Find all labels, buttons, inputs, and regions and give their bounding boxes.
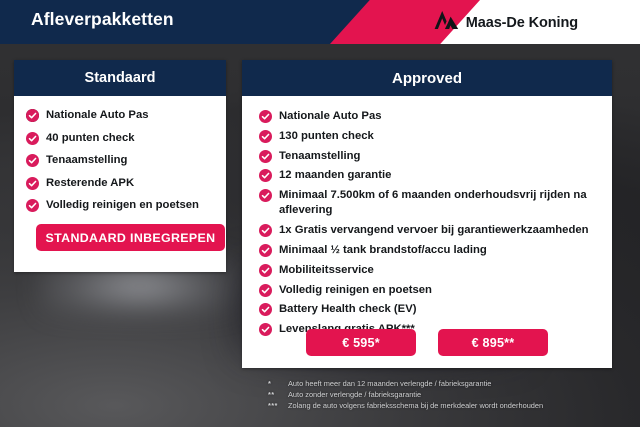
list-item: Volledig reinigen en poetsen bbox=[259, 283, 612, 298]
check-circle-icon bbox=[259, 284, 272, 297]
list-item: 1x Gratis vervangend vervoer bij garanti… bbox=[259, 223, 612, 238]
price-button-595[interactable]: € 595* bbox=[306, 329, 416, 356]
list-item: Tenaamstelling bbox=[26, 154, 226, 167]
feature-label: Tenaamstelling bbox=[46, 154, 127, 167]
feature-label: Minimaal 7.500km of 6 maanden onderhouds… bbox=[279, 188, 612, 218]
check-circle-icon bbox=[259, 244, 272, 257]
feature-label: Volledig reinigen en poetsen bbox=[279, 283, 432, 298]
card-heading-approved: Approved bbox=[242, 60, 612, 96]
price-button-row: € 595* € 895** bbox=[242, 329, 612, 356]
footnote-item: * Auto heeft meer dan 12 maanden verleng… bbox=[268, 378, 628, 389]
price-button-895[interactable]: € 895** bbox=[438, 329, 548, 356]
footnote-text: Auto zonder verlengde / fabrieksgarantie bbox=[288, 389, 628, 400]
list-item: Battery Health check (EV) bbox=[259, 302, 612, 317]
package-card-standaard: Standaard Nationale Auto Pas 40 punten c… bbox=[14, 60, 226, 272]
check-circle-icon bbox=[26, 154, 39, 167]
check-circle-icon bbox=[259, 150, 272, 163]
feature-label: Mobiliteitsservice bbox=[279, 263, 374, 278]
list-item: Minimaal 7.500km of 6 maanden onderhouds… bbox=[259, 188, 612, 218]
check-circle-icon bbox=[26, 132, 39, 145]
feature-label: Nationale Auto Pas bbox=[46, 109, 149, 122]
card-heading-standaard: Standaard bbox=[14, 60, 226, 96]
card-body-approved: Nationale Auto Pas 130 punten check Tena… bbox=[242, 96, 612, 337]
feature-label: 130 punten check bbox=[279, 129, 374, 144]
footnote-text: Zolang de auto volgens fabrieksschema bi… bbox=[288, 400, 628, 411]
list-item: Nationale Auto Pas bbox=[259, 109, 612, 124]
maas-de-koning-m-logo-icon bbox=[433, 10, 459, 35]
feature-label: Minimaal ½ tank brandstof/accu lading bbox=[279, 243, 487, 258]
package-card-approved: Approved Nationale Auto Pas 130 punten c… bbox=[242, 60, 612, 368]
footnote-marker: * bbox=[268, 378, 288, 389]
list-item: 12 maanden garantie bbox=[259, 168, 612, 183]
check-circle-icon bbox=[26, 199, 39, 212]
footnote-item: ** Auto zonder verlengde / fabrieksgaran… bbox=[268, 389, 628, 400]
check-circle-icon bbox=[259, 169, 272, 182]
check-circle-icon bbox=[259, 224, 272, 237]
brand-name: Maas-De Koning bbox=[466, 15, 578, 31]
list-item: Mobiliteitsservice bbox=[259, 263, 612, 278]
feature-label: Nationale Auto Pas bbox=[279, 109, 382, 124]
list-item: Volledig reinigen en poetsen bbox=[26, 199, 226, 212]
check-circle-icon bbox=[259, 130, 272, 143]
footnote-marker: *** bbox=[268, 400, 288, 411]
feature-label: Volledig reinigen en poetsen bbox=[46, 199, 199, 212]
page-title: Afleverpakketten bbox=[31, 9, 174, 30]
list-item: 40 punten check bbox=[26, 132, 226, 145]
feature-label: Battery Health check (EV) bbox=[279, 302, 417, 317]
page-header: Afleverpakketten Maas-De Koning bbox=[0, 0, 640, 44]
footnote-marker: ** bbox=[268, 389, 288, 400]
check-circle-icon bbox=[259, 303, 272, 316]
feature-label: Resterende APK bbox=[46, 177, 134, 190]
feature-list-approved: Nationale Auto Pas 130 punten check Tena… bbox=[242, 109, 612, 337]
check-circle-icon bbox=[259, 189, 272, 202]
list-item: 130 punten check bbox=[259, 129, 612, 144]
afleverpakketten-page: Afleverpakketten Maas-De Koning Standaar… bbox=[0, 0, 640, 427]
list-item: Nationale Auto Pas bbox=[26, 109, 226, 122]
check-circle-icon bbox=[26, 109, 39, 122]
list-item: Resterende APK bbox=[26, 177, 226, 190]
feature-label: 12 maanden garantie bbox=[279, 168, 391, 183]
footnotes: * Auto heeft meer dan 12 maanden verleng… bbox=[268, 378, 628, 411]
feature-label: Tenaamstelling bbox=[279, 149, 360, 164]
feature-label: 1x Gratis vervangend vervoer bij garanti… bbox=[279, 223, 589, 238]
check-circle-icon bbox=[259, 264, 272, 277]
card-body-standaard: Nationale Auto Pas 40 punten check Tenaa… bbox=[14, 96, 226, 212]
footnote-text: Auto heeft meer dan 12 maanden verlengde… bbox=[288, 378, 628, 389]
check-circle-icon bbox=[259, 110, 272, 123]
footnote-item: *** Zolang de auto volgens fabrieksschem… bbox=[268, 400, 628, 411]
feature-list-standaard: Nationale Auto Pas 40 punten check Tenaa… bbox=[14, 109, 226, 212]
list-item: Tenaamstelling bbox=[259, 149, 612, 164]
list-item: Minimaal ½ tank brandstof/accu lading bbox=[259, 243, 612, 258]
feature-label: 40 punten check bbox=[46, 132, 135, 145]
standaard-inbegrepen-button[interactable]: STANDAARD INBEGREPEN bbox=[36, 224, 225, 251]
check-circle-icon bbox=[26, 177, 39, 190]
brand-logo: Maas-De Koning bbox=[433, 10, 578, 35]
